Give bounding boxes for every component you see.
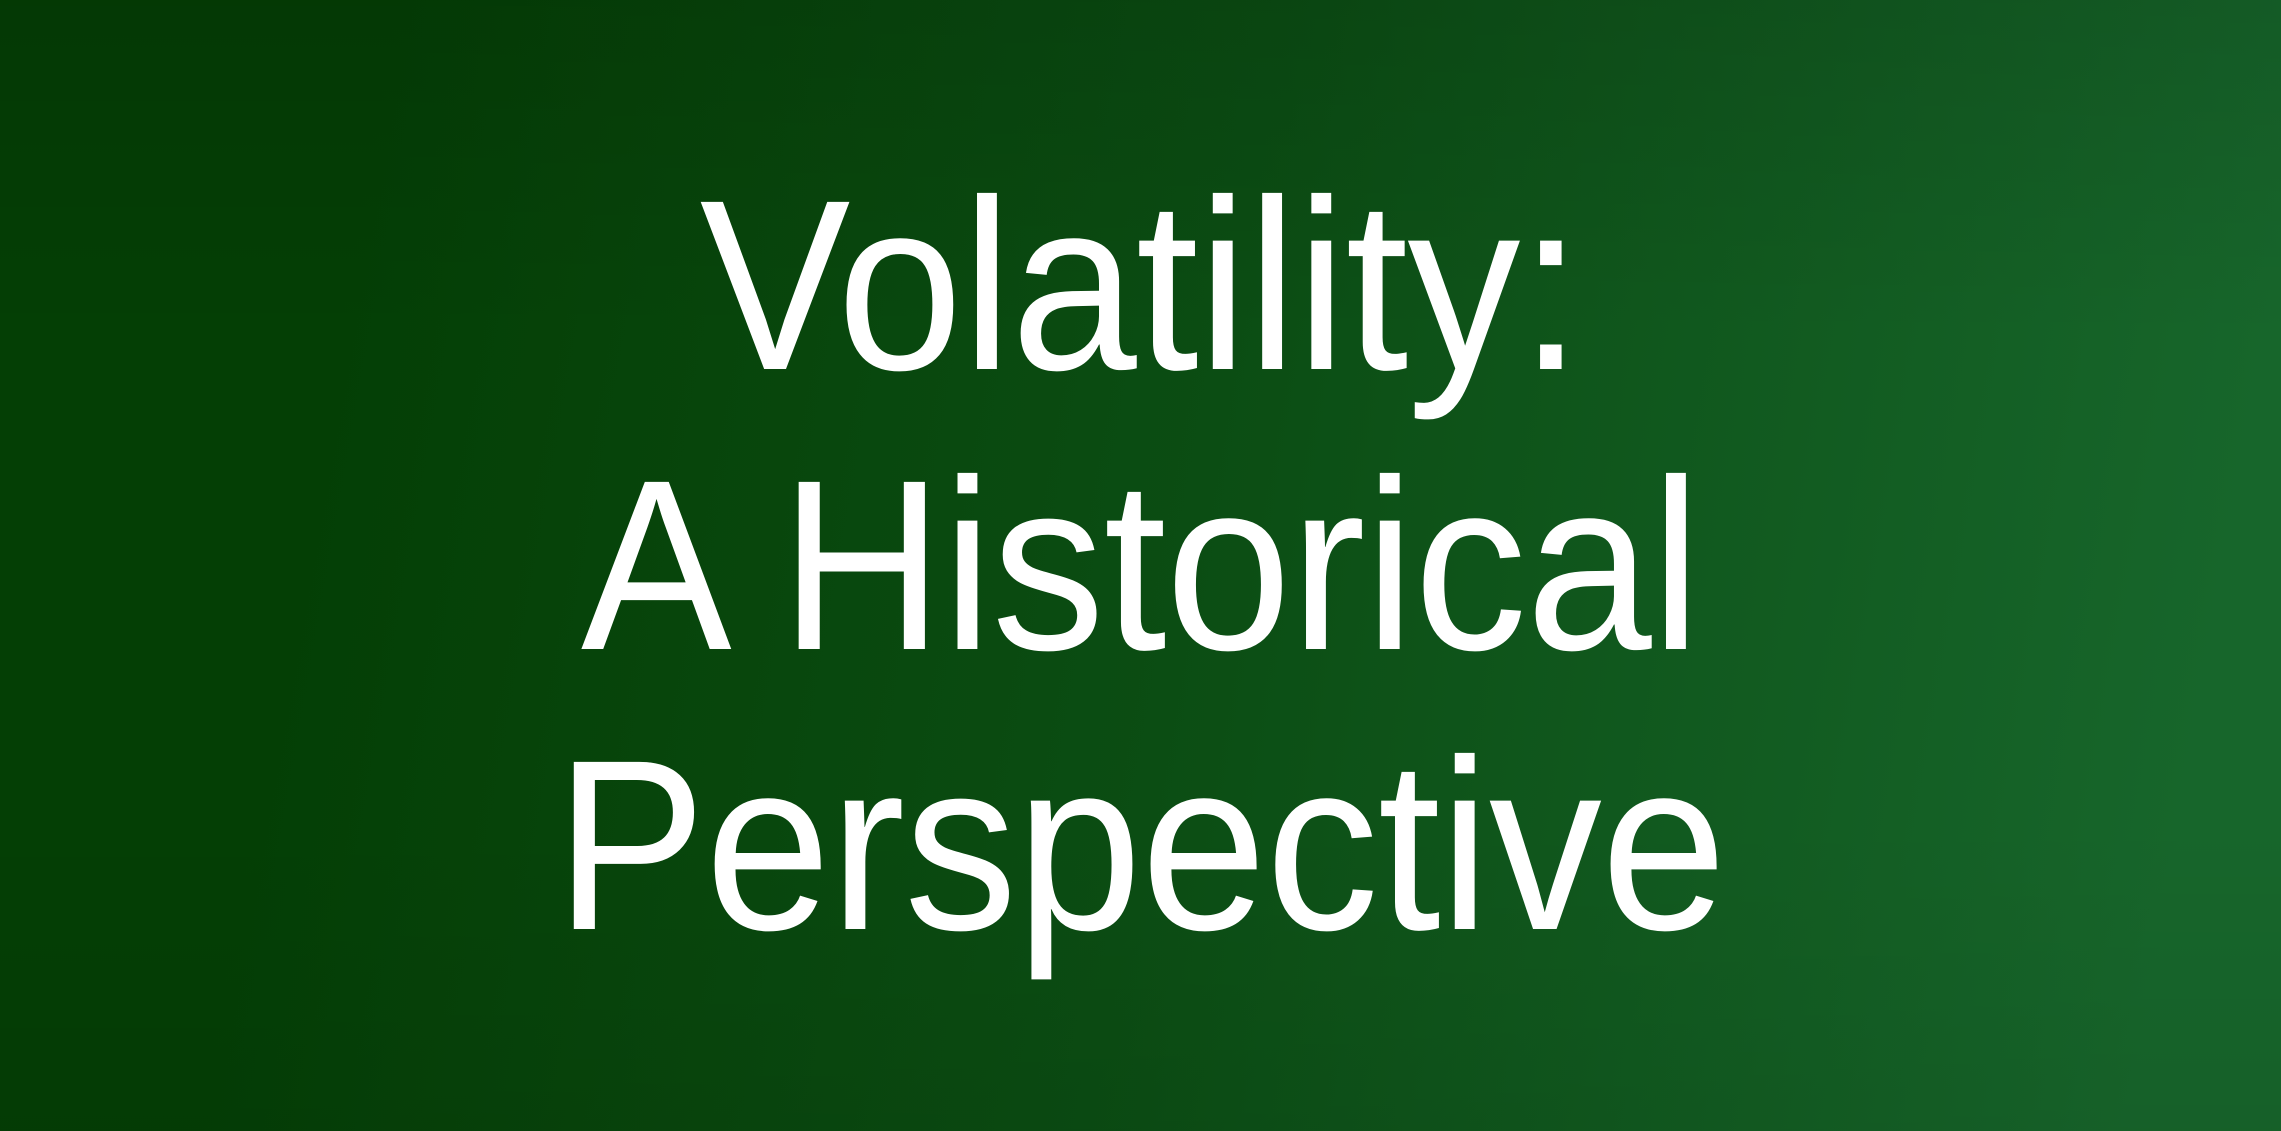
title-line-1: Volatility: [154,155,2127,417]
title-block: Volatility: A Historical Perspective [0,155,2281,977]
title-line-3: Perspective [154,715,2127,977]
title-line-2: A Historical [154,435,2127,697]
title-card-canvas: Volatility: A Historical Perspective [0,0,2281,1131]
